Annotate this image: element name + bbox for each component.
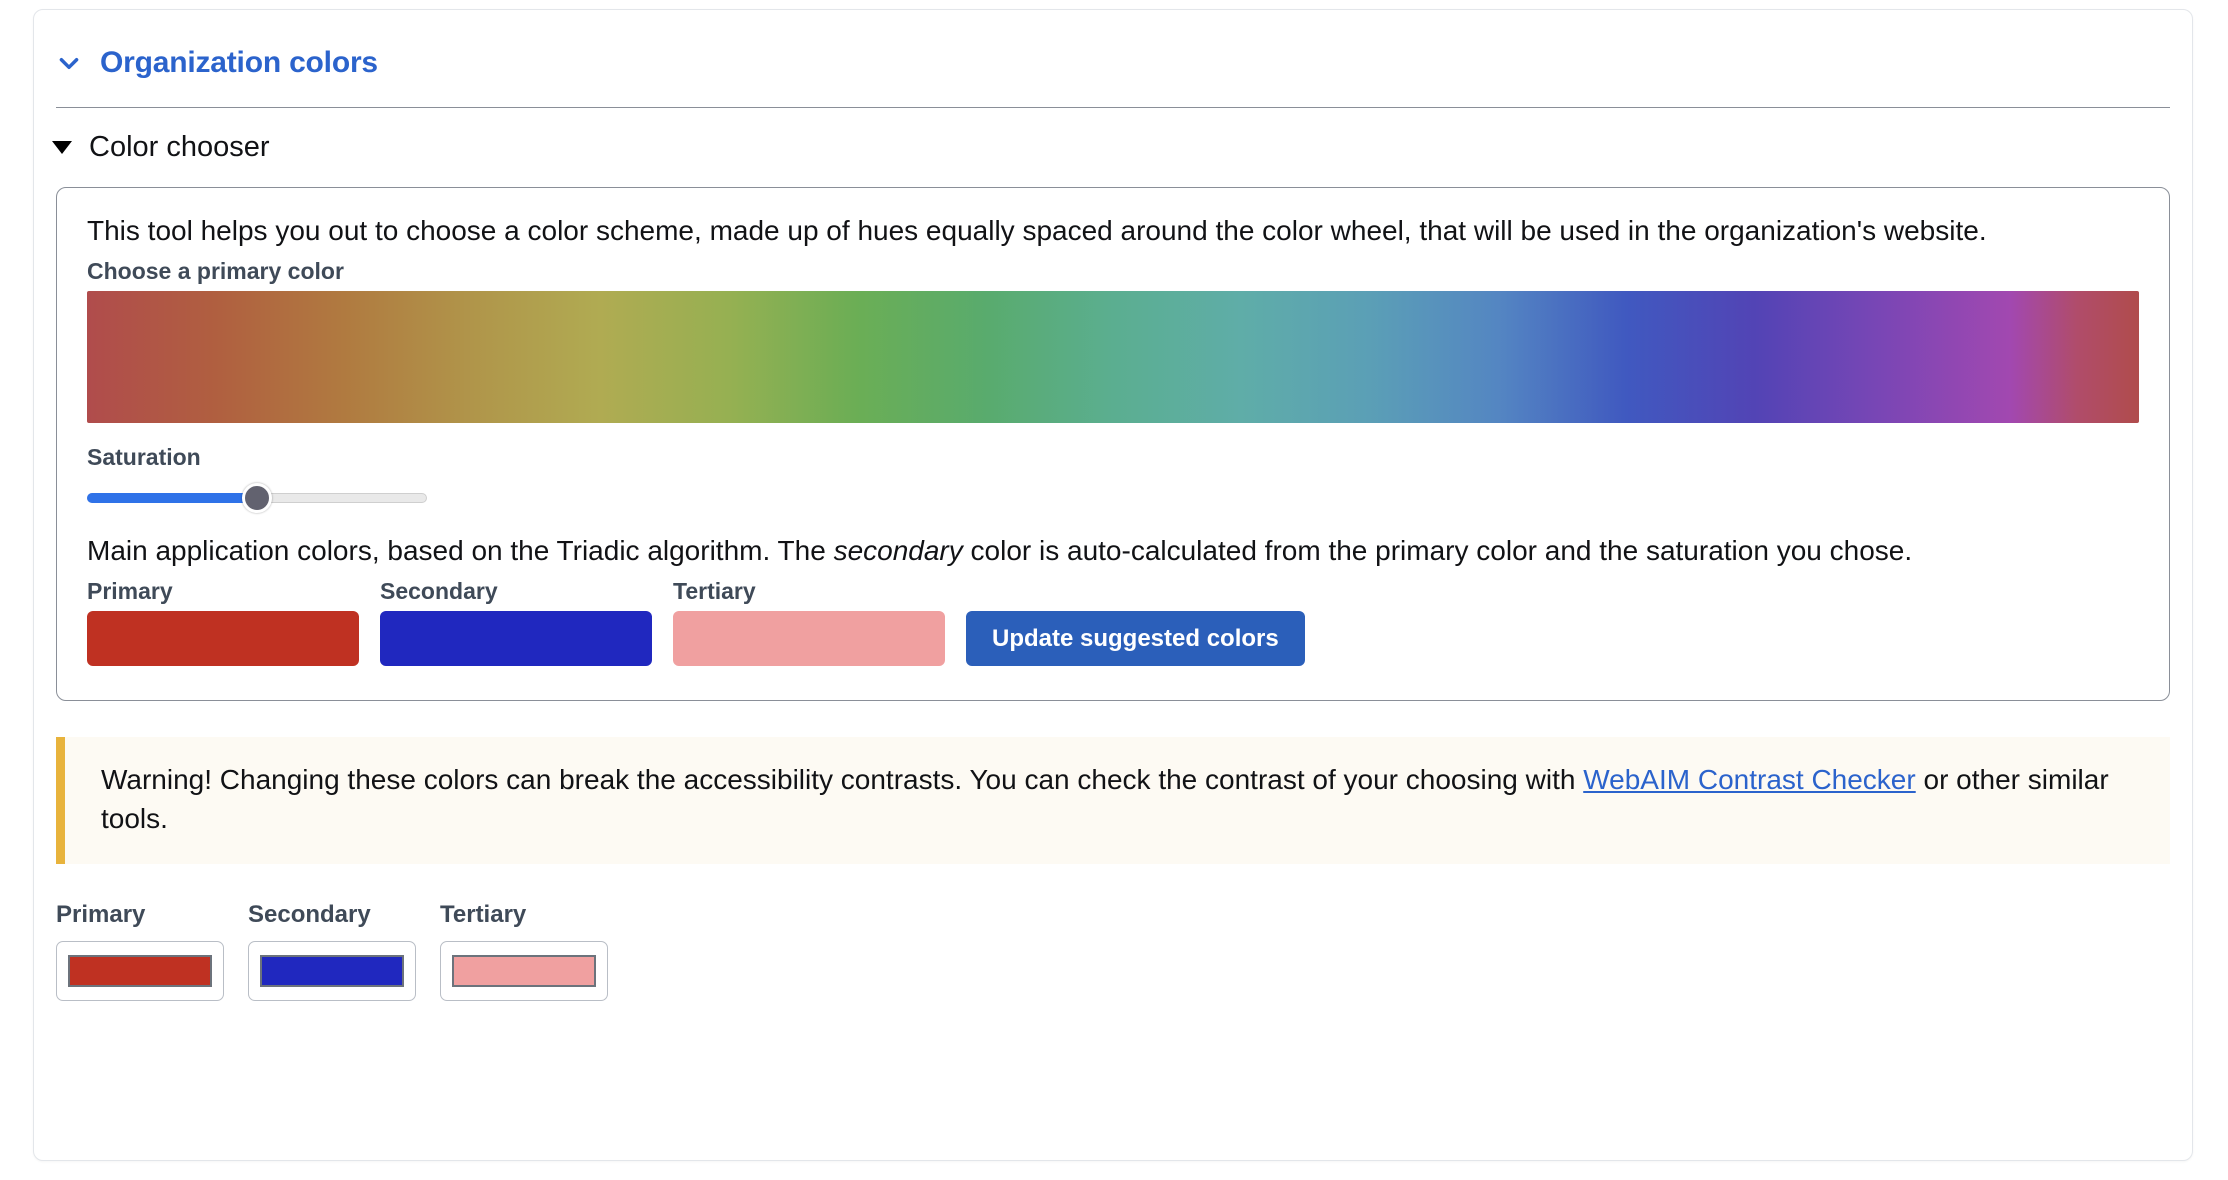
page-title: Organization colors <box>100 48 378 78</box>
main-colors-text-part1: Main application colors, based on the Tr… <box>87 535 834 566</box>
triangle-down-icon <box>52 141 72 154</box>
primary-swatch-label: Primary <box>87 579 359 604</box>
saturation-slider-fill <box>87 493 257 503</box>
primary-color-input-group: Primary <box>56 902 224 1000</box>
secondary-color-input[interactable] <box>248 941 416 1001</box>
color-inputs-row: Primary Secondary Tertiary <box>56 902 2192 1000</box>
primary-swatch[interactable] <box>87 611 359 666</box>
saturation-field: Saturation <box>87 445 2139 517</box>
organization-colors-card: Organization colors Color chooser This t… <box>33 9 2193 1161</box>
saturation-label: Saturation <box>87 445 2139 470</box>
primary-color-chip <box>68 955 212 987</box>
update-suggested-colors-button[interactable]: Update suggested colors <box>966 611 1305 666</box>
organization-colors-accordion-header[interactable]: Organization colors <box>34 10 2192 78</box>
primary-color-input[interactable] <box>56 941 224 1001</box>
accessibility-warning: Warning! Changing these colors can break… <box>56 737 2170 864</box>
chevron-down-icon <box>56 50 82 76</box>
tertiary-swatch-group: Tertiary <box>673 579 945 666</box>
color-chooser-summary[interactable]: Color chooser <box>34 108 2192 162</box>
secondary-color-input-group: Secondary <box>248 902 416 1000</box>
secondary-color-input-label: Secondary <box>248 902 416 928</box>
color-chooser-panel: This tool helps you out to choose a colo… <box>56 187 2170 701</box>
secondary-swatch-label: Secondary <box>380 579 652 604</box>
main-colors-description: Main application colors, based on the Tr… <box>87 533 2139 569</box>
primary-color-picker-label: Choose a primary color <box>87 259 2139 284</box>
tertiary-swatch[interactable] <box>673 611 945 666</box>
tertiary-color-chip <box>452 955 596 987</box>
suggested-swatch-row: Primary Secondary Tertiary Update sugges… <box>87 579 2139 666</box>
warning-text-part1: Warning! Changing these colors can break… <box>101 764 1583 795</box>
tertiary-color-input-label: Tertiary <box>440 902 608 928</box>
secondary-color-chip <box>260 955 404 987</box>
accessibility-warning-text: Warning! Changing these colors can break… <box>101 761 2140 838</box>
webaim-contrast-checker-link[interactable]: WebAIM Contrast Checker <box>1583 764 1916 795</box>
tertiary-color-input-group: Tertiary <box>440 902 608 1000</box>
color-chooser-label: Color chooser <box>89 133 270 162</box>
saturation-slider-thumb[interactable] <box>242 483 272 513</box>
primary-swatch-group: Primary <box>87 579 359 666</box>
color-chooser-description: This tool helps you out to choose a colo… <box>87 212 2139 250</box>
main-colors-text-part2: color is auto-calculated from the primar… <box>963 535 1912 566</box>
saturation-slider[interactable] <box>87 479 427 517</box>
tertiary-color-input[interactable] <box>440 941 608 1001</box>
main-colors-text-emphasis: secondary <box>834 535 963 566</box>
secondary-swatch[interactable] <box>380 611 652 666</box>
secondary-swatch-group: Secondary <box>380 579 652 666</box>
tertiary-swatch-label: Tertiary <box>673 579 945 604</box>
primary-color-input-label: Primary <box>56 902 224 928</box>
hue-gradient-slider[interactable] <box>87 291 2139 423</box>
